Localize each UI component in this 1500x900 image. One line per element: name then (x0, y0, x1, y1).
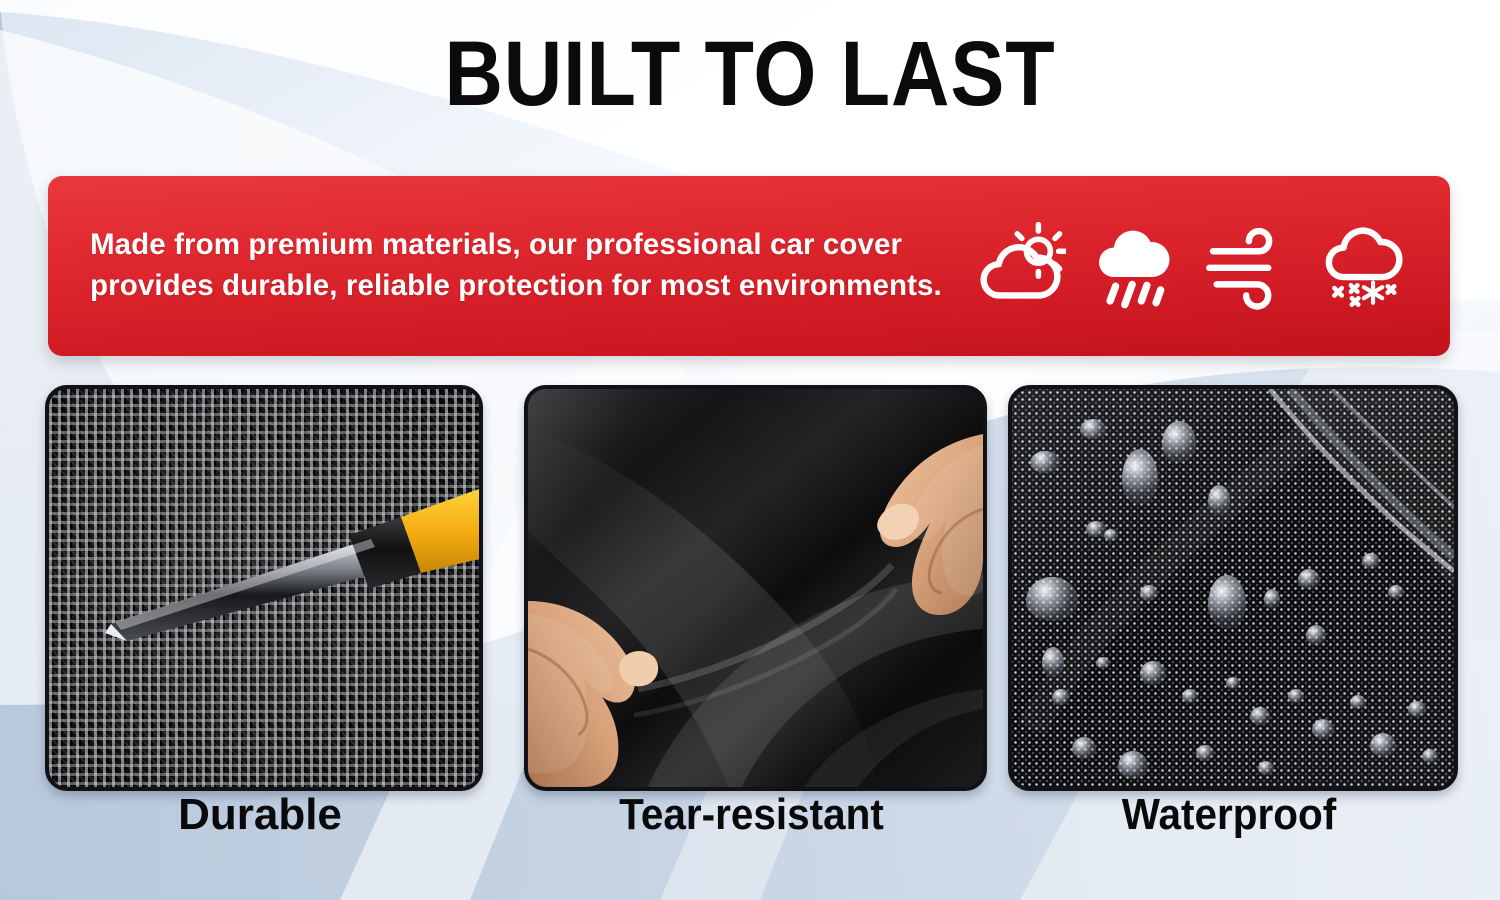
water-droplet (1226, 677, 1240, 689)
water-droplet (1122, 449, 1158, 505)
water-droplet (1042, 647, 1064, 677)
rain-cloud-icon (1088, 220, 1180, 312)
infographic-root: BUILT TO LAST Made from premium material… (0, 0, 1500, 900)
water-droplet (1086, 521, 1106, 537)
page-title: BUILT TO LAST (90, 28, 1410, 120)
water-droplet (1026, 577, 1078, 621)
water-droplet (1298, 569, 1320, 589)
water-droplet (1388, 585, 1404, 599)
feature-caption-tear-resistant: Tear-resistant (542, 790, 961, 840)
water-droplet (1162, 421, 1196, 463)
water-droplet (1370, 733, 1396, 757)
hands-illustration (528, 389, 983, 787)
snow-cloud-icon (1316, 220, 1408, 312)
water-droplet (1182, 689, 1198, 703)
water-droplet (1030, 451, 1060, 473)
promo-banner: Made from premium materials, our profess… (48, 176, 1450, 356)
water-droplet (1208, 485, 1230, 515)
weather-icon-row (974, 176, 1420, 356)
feature-panel-row (0, 385, 1500, 785)
water-droplet (1072, 737, 1096, 759)
banner-description: Made from premium materials, our profess… (48, 225, 990, 306)
water-droplet (1096, 657, 1110, 669)
water-droplet (1264, 589, 1280, 609)
wind-icon (1202, 220, 1294, 312)
feature-panel-durable[interactable] (45, 385, 483, 791)
water-droplet (1250, 707, 1270, 725)
feature-panel-waterproof[interactable] (1008, 385, 1458, 791)
water-droplet (1052, 689, 1070, 705)
water-droplet (1080, 419, 1106, 439)
water-droplet (1118, 751, 1148, 779)
water-droplet (1140, 585, 1158, 601)
water-droplet (1104, 529, 1118, 541)
feature-caption-waterproof: Waterproof (1026, 790, 1433, 840)
screwdriver-illustration (49, 389, 479, 787)
water-droplet (1312, 719, 1334, 739)
hands-stretching-black-fabric-photo (528, 389, 983, 787)
water-droplet (1208, 575, 1246, 629)
water-droplet (1140, 661, 1166, 685)
water-droplet (1196, 745, 1214, 761)
water-droplet (1306, 625, 1326, 645)
woven-fabric-with-screwdriver-photo (49, 389, 479, 787)
water-beads-on-fabric-photo (1012, 389, 1454, 787)
water-droplet (1350, 695, 1366, 709)
water-droplet (1422, 749, 1438, 763)
feature-caption-durable: Durable (45, 790, 475, 840)
water-droplet (1288, 689, 1304, 703)
water-droplet (1408, 701, 1426, 717)
water-droplet (1362, 553, 1380, 569)
feature-panel-tear-resistant[interactable] (524, 385, 987, 791)
sun-behind-cloud-icon (974, 220, 1066, 312)
water-droplet (1258, 761, 1274, 775)
